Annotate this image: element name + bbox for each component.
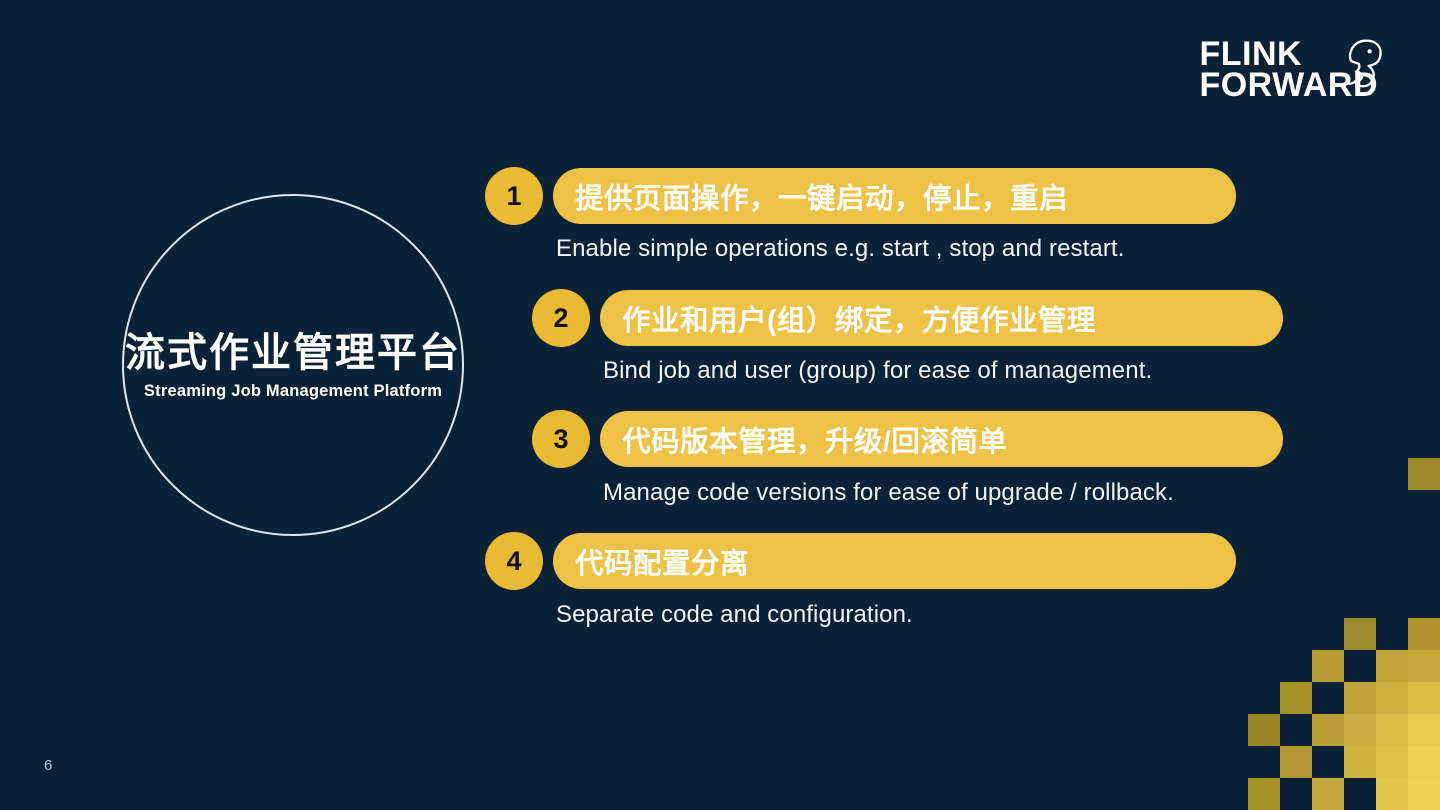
feature-number-badge-2: 2 <box>532 289 590 347</box>
pixel-cell <box>1280 682 1312 714</box>
pixel-cell <box>1408 458 1440 490</box>
pixel-cell <box>1376 650 1408 682</box>
feature-caption-1: Enable simple operations e.g. start , st… <box>556 235 1124 263</box>
feature-headline-text-4: 代码配置分离 <box>575 541 749 582</box>
pixel-cell <box>1408 650 1440 682</box>
pixel-cell <box>1408 746 1440 778</box>
feature-headline-pill-2: 作业和用户(组）绑定，方便作业管理 <box>600 290 1283 346</box>
pixel-mosaic-decoration <box>1180 550 1440 810</box>
feature-caption-2: Bind job and user (group) for ease of ma… <box>603 357 1152 385</box>
platform-subtitle: Streaming Job Management Platform <box>144 382 442 401</box>
pixel-cell <box>1376 714 1408 746</box>
feature-headline-pill-3: 代码版本管理，升级/回滚简单 <box>600 411 1283 467</box>
pixel-cell <box>1376 746 1408 778</box>
pixel-cell <box>1344 746 1376 778</box>
flink-forward-logo: FLINK FORWARD <box>1198 30 1378 110</box>
feature-number-badge-4: 4 <box>485 532 543 590</box>
slide-root: FLINK FORWARD 流式作业管理平台 Streaming Job Man… <box>0 0 1440 810</box>
page-number: 6 <box>44 757 52 774</box>
feature-number-badge-1: 1 <box>485 167 543 225</box>
squirrel-icon <box>1326 32 1388 94</box>
feature-headline-pill-1: 提供页面操作，一键启动，停止，重启 <box>553 168 1236 224</box>
pixel-cell <box>1344 714 1376 746</box>
platform-title: 流式作业管理平台 <box>125 330 461 376</box>
feature-caption-3: Manage code versions for ease of upgrade… <box>603 479 1174 507</box>
pixel-cell <box>1376 778 1408 810</box>
pixel-cell <box>1248 714 1280 746</box>
pixel-cell <box>1280 746 1312 778</box>
feature-headline-text-1: 提供页面操作，一键启动，停止，重启 <box>575 176 1068 217</box>
pixel-cell <box>1408 778 1440 810</box>
pixel-cell <box>1312 714 1344 746</box>
pixel-cell <box>1344 618 1376 650</box>
pixel-cell <box>1408 682 1440 714</box>
pixel-cell <box>1248 778 1280 810</box>
feature-number-badge-3: 3 <box>532 410 590 468</box>
feature-headline-text-3: 代码版本管理，升级/回滚简单 <box>622 419 1007 460</box>
feature-headline-pill-4: 代码配置分离 <box>553 533 1236 589</box>
feature-caption-4: Separate code and configuration. <box>556 601 913 629</box>
pixel-cell <box>1408 618 1440 650</box>
pixel-cell <box>1376 682 1408 714</box>
pixel-cell <box>1344 682 1376 714</box>
pixel-cell <box>1312 778 1344 810</box>
pixel-cell <box>1408 714 1440 746</box>
feature-headline-text-2: 作业和用户(组）绑定，方便作业管理 <box>622 298 1096 339</box>
platform-circle: 流式作业管理平台 Streaming Job Management Platfo… <box>122 194 464 536</box>
pixel-cell <box>1312 650 1344 682</box>
